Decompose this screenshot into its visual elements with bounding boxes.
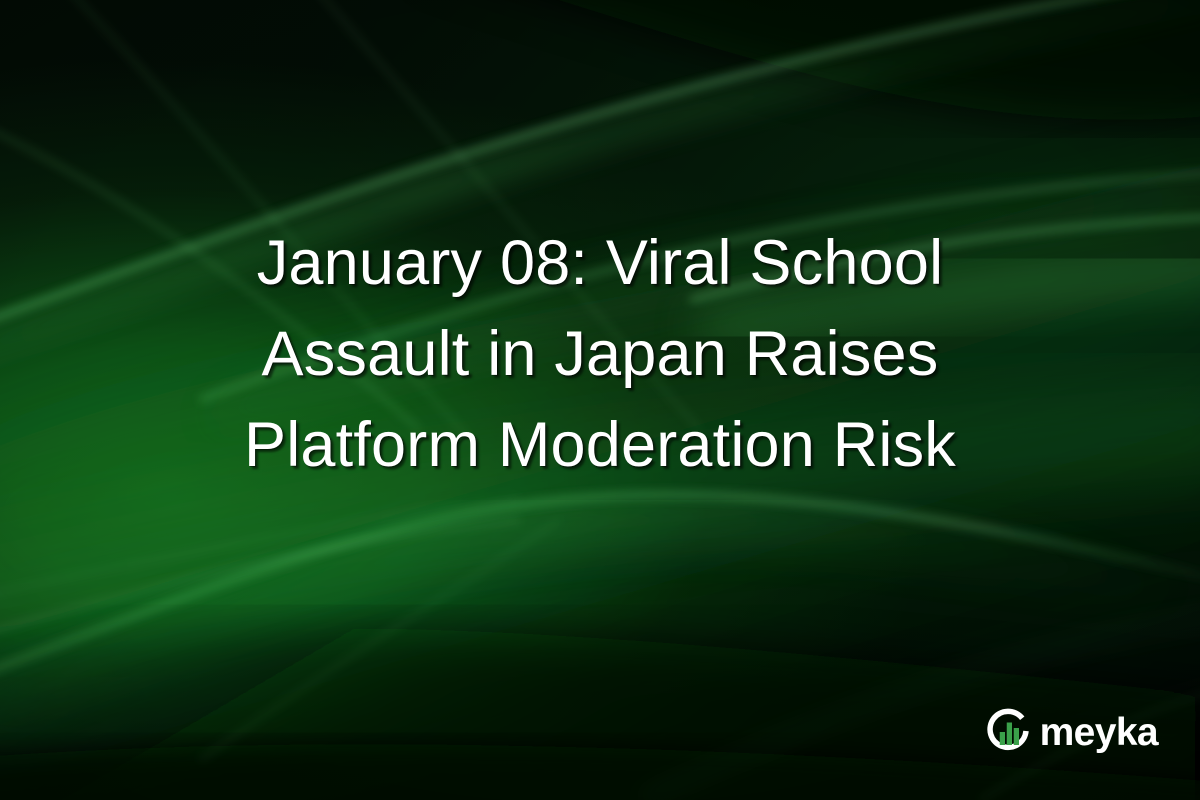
page-title: January 08: Viral School Assault in Japa… — [0, 218, 1200, 491]
meyka-bar-chart-ring-icon — [983, 706, 1033, 756]
brand-logo[interactable]: meyka — [983, 706, 1158, 756]
news-share-card: January 08: Viral School Assault in Japa… — [0, 0, 1200, 800]
brand-wordmark: meyka — [1040, 713, 1158, 752]
